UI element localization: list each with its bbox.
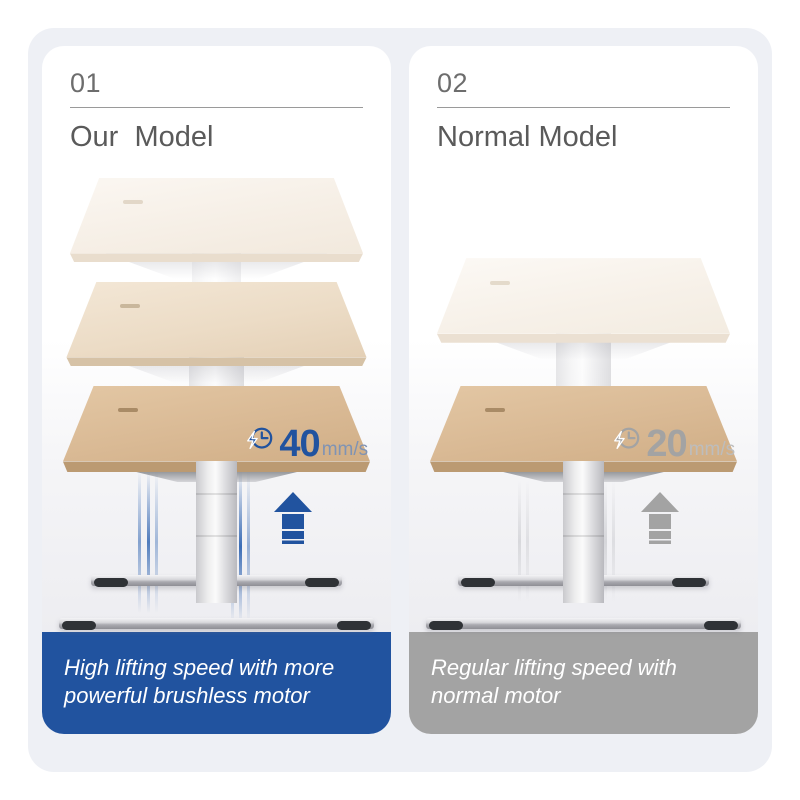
desk-foot-front	[59, 618, 373, 629]
cable-grommet	[490, 281, 510, 285]
header-divider	[70, 107, 363, 108]
panel-header: 02 Normal Model	[409, 46, 758, 155]
clock-bolt-icon	[611, 424, 641, 459]
panel-normal-model[interactable]: 02 Normal Model	[409, 46, 758, 734]
desktop-front-edge	[70, 253, 363, 262]
panel-title: Our Model	[70, 120, 363, 155]
comparison-cards: 01 Our Model	[42, 46, 758, 734]
desktop-front-edge	[66, 357, 366, 366]
speed-badge-our-model: 40 mm/s	[244, 424, 368, 462]
motion-streak	[239, 471, 242, 622]
speed-arrow-up-icon	[639, 490, 681, 549]
motion-streak	[138, 471, 141, 613]
cable-grommet	[120, 304, 140, 308]
foot-cap	[305, 578, 339, 587]
foot-cap	[337, 621, 371, 630]
panel-our-model[interactable]: 01 Our Model	[42, 46, 391, 734]
header-divider	[437, 107, 730, 108]
speed-arrow-up-icon	[272, 490, 314, 549]
column-seam	[563, 493, 605, 495]
panel-caption: Regular lifting speed with normal motor	[409, 632, 758, 734]
speed-unit: mm/s	[689, 440, 735, 459]
motion-streak	[155, 471, 158, 613]
desktop-top-face	[70, 178, 363, 254]
motion-streaks-left	[136, 471, 192, 613]
column-seam	[563, 535, 605, 537]
motion-streak	[147, 471, 150, 613]
panel-title: Normal Model	[437, 120, 730, 155]
comparison-infographic: 01 Our Model	[0, 0, 800, 800]
desktop-surface-top	[437, 258, 730, 334]
cable-grommet	[123, 200, 143, 204]
panel-caption: High lifting speed with more powerful br…	[42, 632, 391, 734]
foot-cap	[429, 621, 463, 630]
lift-column	[563, 461, 605, 603]
speed-badge-normal-model: 20 mm/s	[611, 424, 735, 462]
speed-value: 40	[279, 427, 319, 462]
motion-streak	[247, 471, 250, 622]
speed-value: 20	[646, 427, 686, 462]
foot-cap	[94, 578, 128, 587]
desktop-front-edge	[437, 334, 730, 343]
desktop-surface-mid	[66, 282, 366, 358]
foot-cap	[461, 578, 495, 587]
speed-unit: mm/s	[322, 440, 368, 459]
desk-foot-front	[426, 618, 740, 629]
panel-number: 01	[70, 68, 363, 99]
column-seam	[196, 493, 238, 495]
panel-header: 01 Our Model	[42, 46, 391, 155]
panel-number: 02	[437, 68, 730, 99]
desktop-surface-top	[70, 178, 363, 254]
desk-illustration-our-model: 40 mm/s	[42, 159, 391, 632]
desktop-top-face	[437, 258, 730, 334]
column-seam	[196, 535, 238, 537]
clock-bolt-icon	[244, 424, 274, 459]
foot-cap	[62, 621, 96, 630]
cable-grommet	[485, 408, 505, 412]
foot-cap	[672, 578, 706, 587]
lift-column	[196, 461, 238, 603]
cable-grommet	[118, 408, 138, 412]
desk-illustration-normal-model: 20 mm/s	[409, 159, 758, 632]
desktop-top-face	[66, 282, 366, 358]
foot-cap	[704, 621, 738, 630]
